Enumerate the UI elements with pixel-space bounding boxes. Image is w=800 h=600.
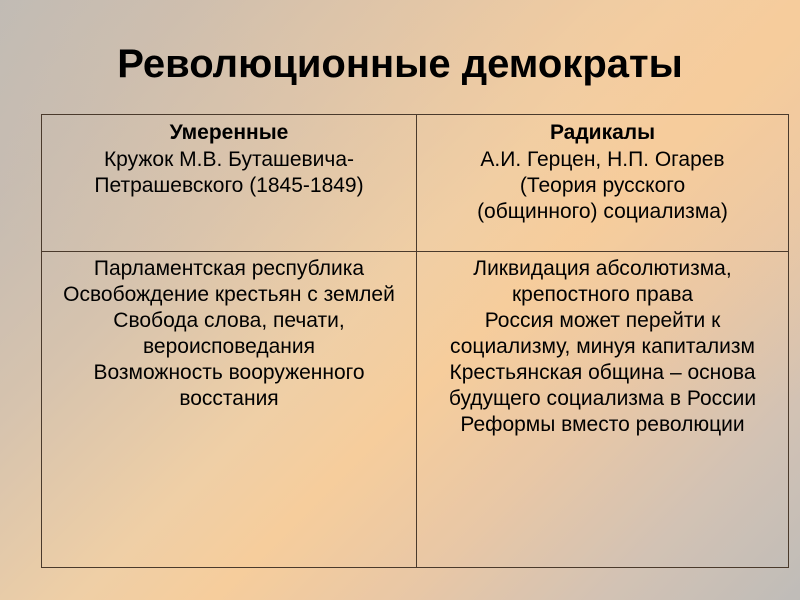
comparison-table: Умеренные Кружок М.В. Буташевича- Петраш…: [41, 114, 789, 568]
list-item: Россия может перейти к социализму, минуя…: [424, 308, 781, 360]
radicals-header-line-1: А.И. Герцен, Н.П. Огарев: [424, 147, 781, 173]
table-cell-radicals-body: Ликвидация абсолютизма, крепостного прав…: [417, 252, 789, 568]
moderates-header-line-1: Кружок М.В. Буташевича-: [49, 147, 409, 173]
table-cell-moderates-body: Парламентская республика Освобождение кр…: [42, 252, 417, 568]
list-item: Свобода слова, печати, вероисповедания: [49, 308, 409, 360]
table-row-header: Умеренные Кружок М.В. Буташевича- Петраш…: [42, 115, 789, 252]
moderates-list: Парламентская республика Освобождение кр…: [49, 256, 409, 412]
list-item: Реформы вместо революции: [424, 412, 781, 438]
column-header-radicals: Радикалы: [424, 119, 781, 146]
moderates-header-line-2: Петрашевского (1845-1849): [49, 173, 409, 199]
list-item: Крестьянская община – основа будущего со…: [424, 360, 781, 412]
table-cell-radicals-header: Радикалы А.И. Герцен, Н.П. Огарев (Теори…: [417, 115, 789, 252]
table-cell-moderates-header: Умеренные Кружок М.В. Буташевича- Петраш…: [42, 115, 417, 252]
page-title: Революционные демократы: [0, 40, 800, 88]
list-item: Ликвидация абсолютизма, крепостного прав…: [424, 256, 781, 308]
column-header-moderates: Умеренные: [49, 119, 409, 146]
table-row-body: Парламентская республика Освобождение кр…: [42, 252, 789, 568]
radicals-header-line-3: (общинного) социализма): [424, 199, 781, 225]
radicals-header-line-2: (Теория русского: [424, 173, 781, 199]
list-item: Возможность вооруженного восстания: [49, 360, 409, 412]
list-item: Парламентская республика: [49, 256, 409, 282]
slide: Революционные демократы Умеренные Кружок…: [0, 0, 800, 600]
radicals-list: Ликвидация абсолютизма, крепостного прав…: [424, 256, 781, 438]
list-item: Освобождение крестьян с землей: [49, 282, 409, 308]
